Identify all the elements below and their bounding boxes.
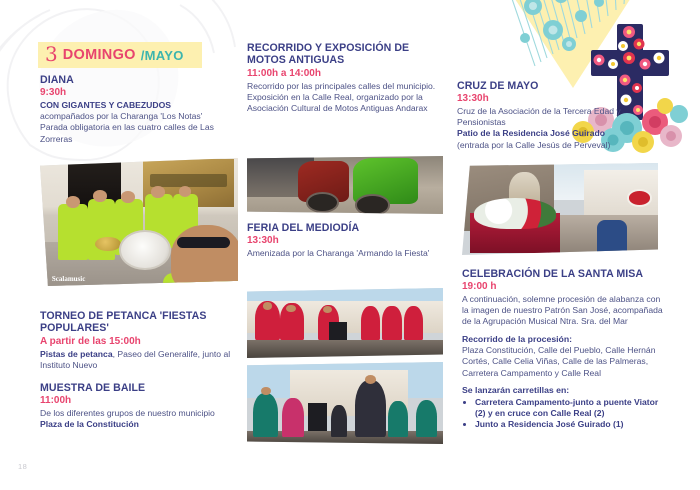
event-venue: Pistas de petanca <box>40 349 113 359</box>
event-title: FERIA DEL MEDIODÍA <box>247 222 447 234</box>
event-time: 11:00h a 14:00h <box>247 68 443 80</box>
event-time: 11:00h <box>40 395 240 407</box>
photo-layer-head <box>261 387 271 395</box>
photo-layer-dancer <box>282 398 304 437</box>
event-title: CELEBRACIÓN DE LA SANTA MISA <box>462 268 664 280</box>
event-subheading-fireworks: Se lanzarán carretillas en: <box>462 385 664 396</box>
photo-layer-dancer <box>382 306 402 340</box>
event-body: Pistas de petanca, Paseo del Generalife,… <box>40 349 240 371</box>
event-time: 13:30h <box>457 93 663 105</box>
photo-layer-musician <box>88 199 116 260</box>
photo-layer-musician <box>331 405 347 438</box>
column-right-lower: CELEBRACIÓN DE LA SANTA MISA 19:00 h A c… <box>462 268 664 430</box>
event-petanca: TORNEO DE PETANCA 'FIESTAS POPULARES' A … <box>40 310 240 371</box>
event-title: TORNEO DE PETANCA 'FIESTAS POPULARES' <box>40 310 240 335</box>
photo-layer-bass-drum <box>119 230 171 270</box>
photo-watermark-caption: Scalamusic <box>52 275 85 283</box>
column-left: DIANA 9:30h CON GIGANTES Y CABEZUDOS aco… <box>40 74 236 145</box>
event-venue: Plaza de la Constitución <box>40 419 240 430</box>
photo-layer-head <box>121 191 135 203</box>
list-item: Junto a Residencia José Guirado (1) <box>475 419 664 430</box>
photo-layer-head <box>66 196 80 208</box>
event-body: A continuación, solemne procesión de ala… <box>462 294 664 327</box>
event-time: 9:30h <box>40 87 236 99</box>
photo-layer-dancer <box>388 401 408 437</box>
event-subheading-route: Recorrido de la procesión: <box>462 334 664 345</box>
event-body: Recorrido por las principales calles del… <box>247 81 443 114</box>
photo-layer-speaker <box>329 322 347 340</box>
photo-layer-dancer <box>361 306 381 340</box>
event-body: Amenizada por la Charanga 'Armando la Fi… <box>247 248 447 259</box>
column-left-lower: TORNEO DE PETANCA 'FIESTAS POPULARES' A … <box>40 310 240 430</box>
column-right: CRUZ DE MAYO 13:30h Cruz de la Asociació… <box>457 80 663 151</box>
date-day-name: DOMINGO <box>63 48 136 63</box>
photo-layer-man-in-suit <box>597 220 626 255</box>
event-time: 19:00 h <box>462 281 664 293</box>
photo-flamenco-green <box>247 362 443 444</box>
event-santa-misa: CELEBRACIÓN DE LA SANTA MISA 19:00 h A c… <box>462 268 664 430</box>
fireworks-locations-list: Carretera Campamento-junto a puente Viat… <box>462 397 664 430</box>
event-cruz-de-mayo: CRUZ DE MAYO 13:30h Cruz de la Asociació… <box>457 80 663 151</box>
photo-layer-head <box>151 186 165 198</box>
date-month: /MAYO <box>141 49 184 62</box>
event-lead: CON GIGANTES Y CABEZUDOS <box>40 100 236 111</box>
event-route-body: Plaza Constitución, Calle del Pueblo, Ca… <box>462 345 664 378</box>
event-title: RECORRIDO Y EXPOSICIÓN DE MOTOS ANTIGUAS <box>247 42 443 67</box>
event-muestra-de-baile: MUESTRA DE BAILE 11:00h De los diferente… <box>40 382 240 430</box>
event-venue-note: (entrada por la Calle Jesús de Perveval) <box>457 140 663 151</box>
date-day-number: 3 <box>45 44 58 64</box>
event-time: 13:30h <box>247 235 447 247</box>
event-body: Cruz de la Asociación de la Tercera Edad… <box>457 106 663 128</box>
event-title: DIANA <box>40 74 236 86</box>
photo-layer-lead-dancer <box>355 380 386 437</box>
photo-layer-wheel <box>355 194 390 214</box>
event-feria-del-mediodia: FERIA DEL MEDIODÍA 13:30h Amenizada por … <box>247 222 447 259</box>
photo-layer-speaker <box>308 403 328 431</box>
date-banner: 3 DOMINGO /MAYO <box>38 42 202 68</box>
event-venue: Patio de la Residencia José Guirado <box>457 128 663 139</box>
photo-layer-selfie-face <box>171 225 238 286</box>
photo-layer-dancer <box>253 393 278 437</box>
photo-layer-head <box>93 190 107 202</box>
photo-procession <box>462 163 658 255</box>
event-title: CRUZ DE MAYO <box>457 80 663 92</box>
column-middle-lower: FERIA DEL MEDIODÍA 13:30h Amenizada por … <box>247 222 447 259</box>
photo-layer-head <box>263 302 273 310</box>
event-diana: DIANA 9:30h CON GIGANTES Y CABEZUDOS aco… <box>40 74 236 145</box>
column-middle: RECORRIDO Y EXPOSICIÓN DE MOTOS ANTIGUAS… <box>247 42 443 114</box>
list-item: Carretera Campamento-junto a puente Viat… <box>475 397 664 419</box>
event-body: De los diferentes grupos de nuestro muni… <box>40 408 240 419</box>
photo-flamenco-red <box>247 288 443 358</box>
photo-layer-stop-sign <box>627 189 653 207</box>
photo-layer-musician <box>58 204 88 260</box>
photo-layer-flowers <box>474 198 556 229</box>
photo-motos-antiguas <box>247 156 443 214</box>
event-title: MUESTRA DE BAILE <box>40 382 240 394</box>
event-time: A partir de las 15:00h <box>40 336 240 348</box>
photo-layer-dancer <box>416 400 438 438</box>
event-body: acompañados por la Charanga 'Los Notas' … <box>40 111 236 144</box>
photo-layer-stage <box>247 340 443 358</box>
program-page: 3 DOMINGO /MAYO <box>0 0 700 490</box>
photo-layer-dancer <box>404 306 424 340</box>
event-motos-antiguas: RECORRIDO Y EXPOSICIÓN DE MOTOS ANTIGUAS… <box>247 42 443 114</box>
photo-layer-sunglasses <box>177 237 230 247</box>
photo-charanga-los-notas: Scalamusic <box>40 158 238 286</box>
page-number: 18 <box>18 462 27 471</box>
